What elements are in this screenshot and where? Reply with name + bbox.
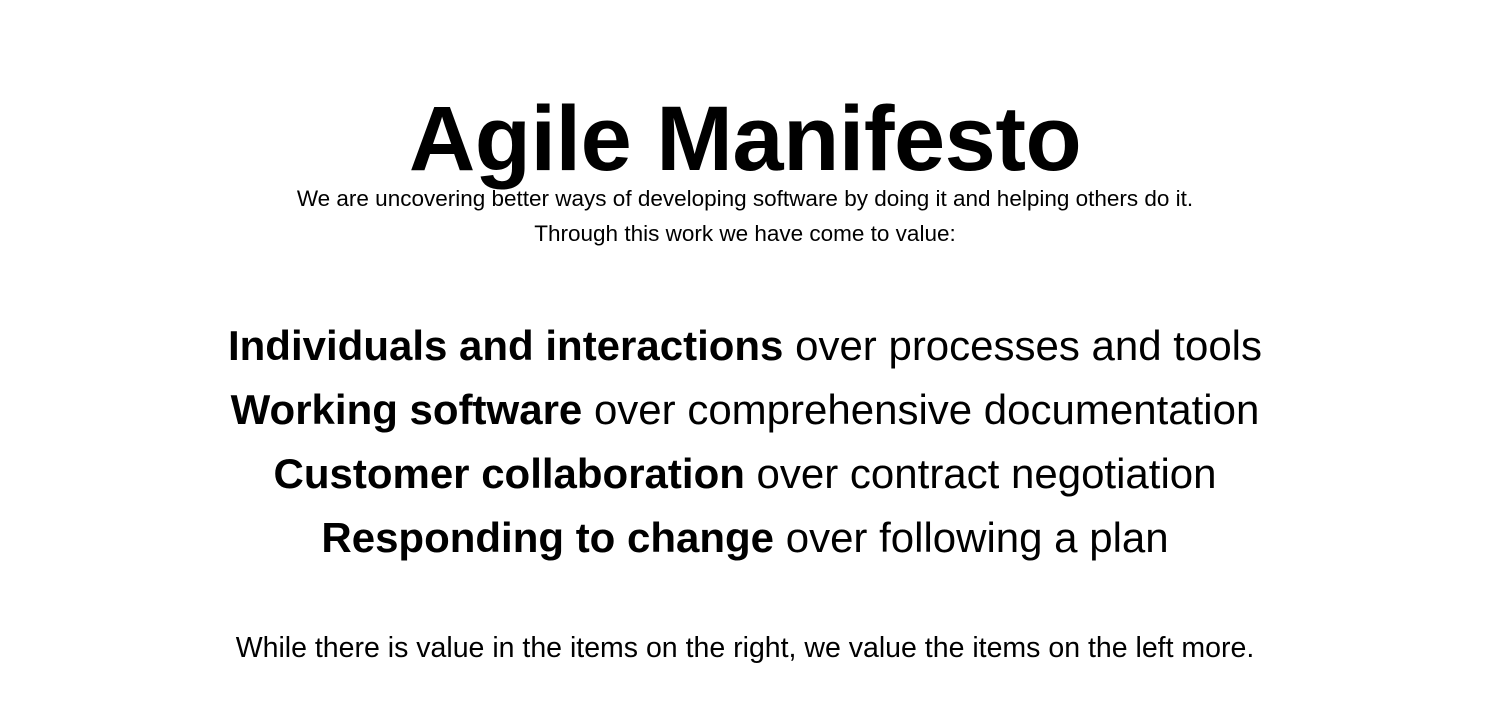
value-item-4-lead: Responding to change [321, 514, 774, 561]
value-item-2-lead: Working software [231, 386, 583, 433]
footer-note: While there is value in the items on the… [0, 629, 1490, 667]
value-item-3: Customer collaboration over contract neg… [0, 442, 1490, 506]
intro-line-2: Through this work we have come to value: [0, 216, 1490, 251]
value-item-4-rest: over following a plan [774, 514, 1169, 561]
value-item-2: Working software over comprehensive docu… [0, 378, 1490, 442]
intro-line-1: We are uncovering better ways of develop… [0, 181, 1490, 216]
value-item-1: Individuals and interactions over proces… [0, 314, 1490, 378]
agile-manifesto-slide: Agile Manifesto We are uncovering better… [0, 0, 1490, 706]
value-item-1-lead: Individuals and interactions [228, 322, 783, 369]
page-title: Agile Manifesto [0, 90, 1490, 189]
value-item-4: Responding to change over following a pl… [0, 506, 1490, 570]
value-item-3-rest: over contract negotiation [745, 450, 1217, 497]
values-list: Individuals and interactions over proces… [0, 314, 1490, 570]
intro-paragraph: We are uncovering better ways of develop… [0, 181, 1490, 251]
value-item-1-rest: over processes and tools [783, 322, 1262, 369]
value-item-2-rest: over comprehensive documentation [582, 386, 1259, 433]
value-item-3-lead: Customer collaboration [273, 450, 744, 497]
